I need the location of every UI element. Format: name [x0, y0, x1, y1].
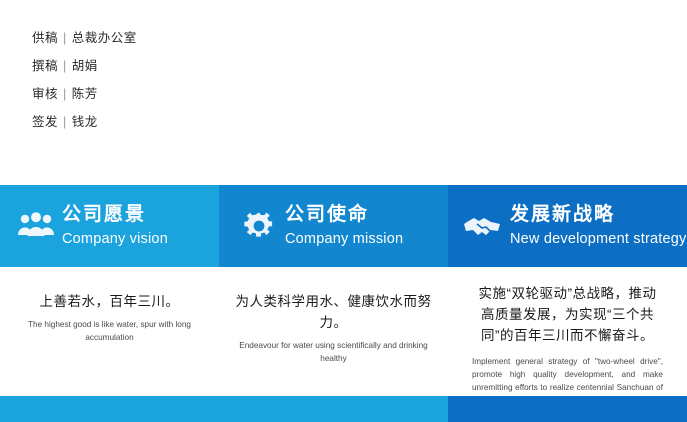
content-text-en: The highest good is like water, spur wit… — [18, 319, 201, 344]
credit-value: 总裁办公室 — [72, 31, 137, 45]
credit-label: 供稿 — [32, 31, 58, 45]
content-column-vision: 上善若水，百年三川。 The highest good is like wate… — [0, 275, 219, 395]
banner-title-cn: 公司使命 — [285, 202, 403, 226]
bottom-bar-right — [448, 396, 687, 422]
banner-text: 公司愿景 Company vision — [62, 202, 168, 250]
banner-text: 发展新战略 New development strategy — [510, 202, 686, 250]
bottom-bar — [0, 396, 687, 422]
credit-label: 撰稿 — [32, 59, 58, 73]
banner-title-en: New development strategy — [510, 228, 686, 250]
credit-line: 签发|钱龙 — [32, 108, 432, 136]
banner-strip: 公司愿景 Company vision 公司使命 Company mission — [0, 185, 687, 267]
content-column-strategy: 实施“双轮驱动”总战略，推动高质量发展，为实现“三个共同”的百年三川而不懈奋斗。… — [448, 275, 687, 395]
banner-column-strategy: 发展新战略 New development strategy — [448, 185, 687, 267]
gear-icon — [237, 204, 281, 248]
banner-text: 公司使命 Company mission — [285, 202, 403, 250]
credit-line: 撰稿|胡娟 — [32, 52, 432, 80]
banner-title-en: Company mission — [285, 228, 403, 250]
credit-label: 签发 — [32, 115, 58, 129]
credit-value: 胡娟 — [72, 59, 98, 73]
credit-label: 审核 — [32, 87, 58, 101]
handshake-icon — [462, 204, 506, 248]
credit-line: 供稿|总裁办公室 — [32, 24, 432, 52]
credit-line: 审核|陈芳 — [32, 80, 432, 108]
content-column-mission: 为人类科学用水、健康饮水而努力。 Endeavour for water usi… — [219, 275, 448, 395]
people-group-icon — [14, 204, 58, 248]
content-text-cn: 上善若水，百年三川。 — [18, 291, 201, 312]
credit-separator: | — [58, 31, 72, 45]
banner-column-vision: 公司愿景 Company vision — [0, 185, 219, 267]
credit-separator: | — [58, 87, 72, 101]
credit-value: 钱龙 — [72, 115, 98, 129]
content-columns: 上善若水，百年三川。 The highest good is like wate… — [0, 275, 687, 395]
credit-separator: | — [58, 59, 72, 73]
content-text-cn: 实施“双轮驱动”总战略，推动高质量发展，为实现“三个共同”的百年三川而不懈奋斗。 — [472, 283, 663, 346]
content-text-cn: 为人类科学用水、健康饮水而努力。 — [233, 291, 434, 333]
banner-title-cn: 公司愿景 — [62, 202, 168, 226]
credits-block: 供稿|总裁办公室 撰稿|胡娟 审核|陈芳 签发|钱龙 — [32, 24, 432, 136]
credit-value: 陈芳 — [72, 87, 98, 101]
banner-title-cn: 发展新战略 — [510, 202, 686, 226]
document-page: 供稿|总裁办公室 撰稿|胡娟 审核|陈芳 签发|钱龙 — [0, 0, 687, 422]
credit-separator: | — [58, 115, 72, 129]
banner-column-mission: 公司使命 Company mission — [219, 185, 448, 267]
banner-title-en: Company vision — [62, 228, 168, 250]
bottom-bar-left — [0, 396, 448, 422]
content-text-en: Endeavour for water using scientifically… — [233, 340, 434, 365]
